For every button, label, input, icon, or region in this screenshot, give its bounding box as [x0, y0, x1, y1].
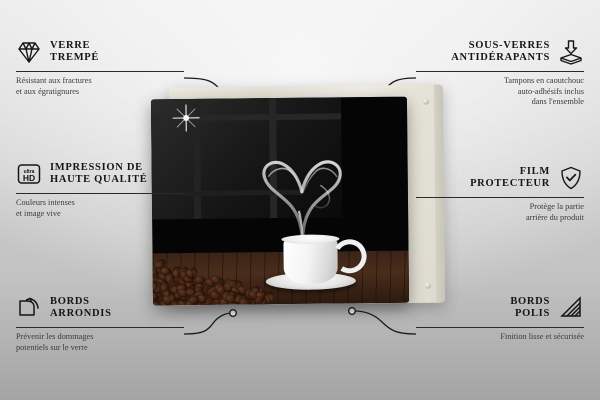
ultra-hd-icon: ultra HD — [16, 161, 42, 187]
feature-title: BORDS POLIS — [510, 296, 550, 321]
svg-text:HD: HD — [23, 173, 35, 183]
feature-header: BORDS ARRONDIS — [16, 292, 202, 324]
feature-title: IMPRESSION DE HAUTE QUALITÉ — [50, 162, 148, 187]
feature-divider — [416, 327, 584, 328]
feature-subtitle: Finition lisse et sécurisée — [398, 332, 584, 343]
coffee-cup — [283, 239, 337, 284]
feature-subtitle: Prévenir les dommages potentiels sur le … — [16, 332, 202, 353]
product-feature-infographic: VERRE TREMPÉ Résistant aux fractures et … — [0, 0, 600, 400]
feature-impression-haute-qualite[interactable]: ultra HD IMPRESSION DE HAUTE QUALITÉ Cou… — [16, 158, 202, 219]
feature-header: FILM PROTECTEUR — [398, 162, 584, 194]
feature-subtitle: Couleurs intenses et image vive — [16, 198, 202, 219]
feature-divider — [16, 71, 184, 72]
feature-header: SOUS-VERRES ANTIDÉRAPANTS — [398, 36, 584, 68]
feature-subtitle: Protège la partie arrière du produit — [398, 202, 584, 223]
feature-bords-polis[interactable]: BORDS POLIS Finition lisse et sécurisée — [398, 292, 584, 343]
feature-divider — [16, 327, 184, 328]
feature-header: VERRE TREMPÉ — [16, 36, 202, 68]
feature-film-protecteur[interactable]: FILM PROTECTEUR Protège la partie arrièr… — [398, 162, 584, 223]
feature-subtitle: Résistant aux fractures et aux égratignu… — [16, 76, 202, 97]
feature-header: ultra HD IMPRESSION DE HAUTE QUALITÉ — [16, 158, 202, 190]
press-pad-icon — [558, 39, 584, 65]
feature-title: SOUS-VERRES ANTIDÉRAPANTS — [451, 40, 550, 65]
feature-title: FILM PROTECTEUR — [470, 166, 550, 191]
polished-edge-icon — [558, 295, 584, 321]
rubber-foot — [425, 283, 431, 289]
feature-verre-trempe[interactable]: VERRE TREMPÉ Résistant aux fractures et … — [16, 36, 202, 97]
feature-title: VERRE TREMPÉ — [50, 40, 99, 65]
feature-divider — [416, 71, 584, 72]
feature-divider — [16, 193, 184, 194]
feature-header: BORDS POLIS — [398, 292, 584, 324]
feature-title: BORDS ARRONDIS — [50, 296, 112, 321]
feature-bords-arrondis[interactable]: BORDS ARRONDIS Prévenir les dommages pot… — [16, 292, 202, 353]
shield-check-icon — [558, 165, 584, 191]
rounded-corner-icon — [16, 295, 42, 321]
feature-divider — [416, 197, 584, 198]
diamond-icon — [16, 39, 42, 65]
feature-sous-verres-antiderapants[interactable]: SOUS-VERRES ANTIDÉRAPANTS Tampons en cao… — [398, 36, 584, 108]
feature-subtitle: Tampons en caoutchouc auto-adhésifs incl… — [398, 76, 584, 108]
